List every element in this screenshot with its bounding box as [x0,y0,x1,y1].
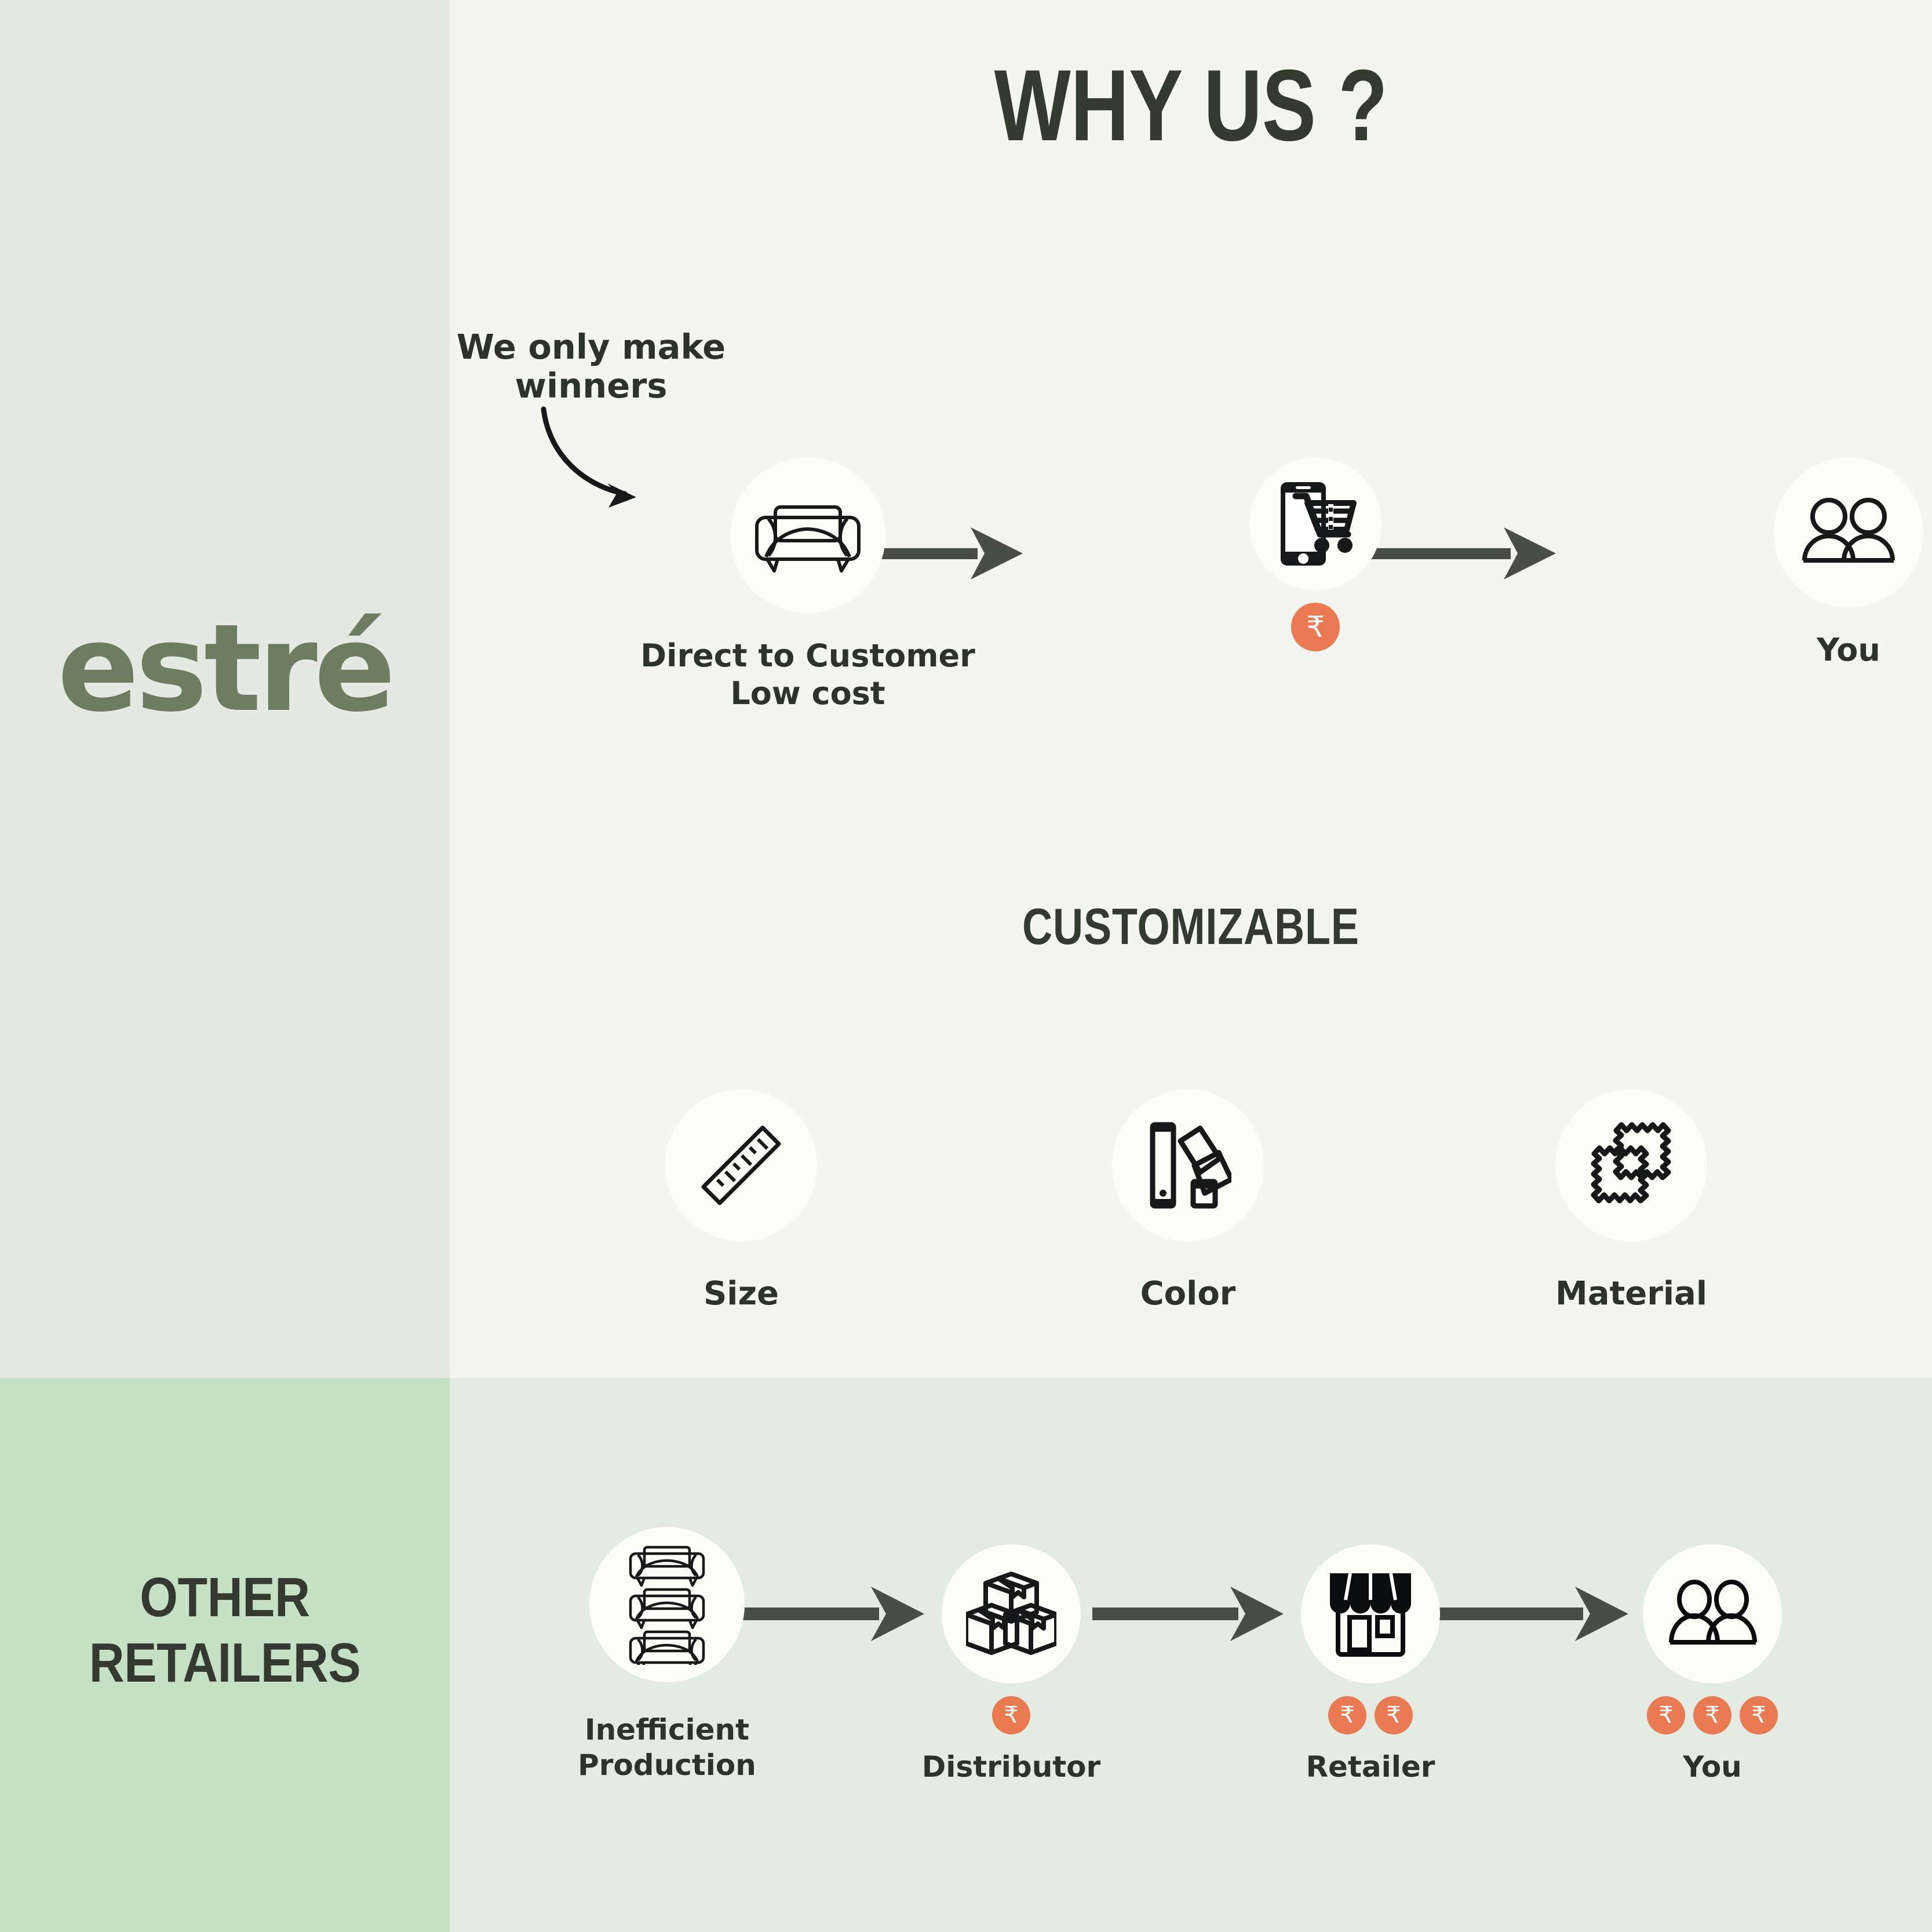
retailer-node-label: Retailer [1220,1750,1521,1784]
fabric-swatch-icon-disc [1555,1089,1707,1241]
other-retailers-title: OTHER RETAILERS [27,1565,423,1696]
page-title: WHY US ? [598,55,1784,156]
color-swatch-icon [1144,1121,1231,1209]
fabric-swatch-icon [1587,1121,1675,1209]
rupee-coin: ₹ [992,1696,1030,1734]
customizable-item-label: Material [1486,1275,1776,1313]
stacked-sofas-icon-disc [589,1527,745,1682]
retailer-flow-arrow-2 [1092,1582,1284,1646]
mobile-cart-icon-disc [1249,458,1381,590]
callout-text: We only make winners [440,327,742,406]
two-people-icon [1798,495,1900,570]
rupee-coin: ₹ [1375,1696,1413,1734]
customizable-item-label: Color [1043,1275,1333,1313]
coin-group: ₹ ₹ ₹ [1647,1696,1778,1734]
retailer-flow-arrow-1 [733,1582,924,1646]
two-people-icon-disc-2 [1643,1544,1782,1683]
customizable-title: CUSTOMIZABLE [583,901,1799,952]
coin-group: ₹ ₹ [1328,1696,1413,1734]
sofa-icon-disc [730,458,885,613]
flow-node-label: Direct to Customer Low cost [622,637,993,713]
ruler-icon-disc [665,1089,817,1241]
retailer-flow-arrow-3 [1437,1582,1628,1646]
retailer-node-label: Inefficient Production [505,1712,829,1783]
rupee-coin: ₹ [1740,1696,1778,1734]
sofa-icon [751,498,865,573]
storefront-icon-disc [1301,1544,1440,1683]
rupee-coin: ₹ [1693,1696,1731,1734]
color-swatch-icon-disc [1112,1089,1264,1241]
storefront-icon [1325,1571,1416,1657]
brand-logo: estré [0,608,450,729]
retailer-node-label: Distributor [861,1750,1162,1784]
two-people-icon-disc [1774,458,1923,607]
boxes-icon [966,1570,1056,1657]
boxes-icon-disc [942,1544,1081,1683]
coin-group: ₹ [1291,603,1340,651]
customizable-item-label: Size [596,1275,886,1313]
rupee-coin: ₹ [1291,603,1340,651]
stacked-sofas-icon [624,1544,710,1665]
coin-group: ₹ [992,1696,1030,1734]
curved-arrow-icon [539,406,666,516]
ruler-icon [698,1122,785,1209]
two-people-icon [1664,1579,1760,1649]
mobile-cart-icon [1266,474,1365,574]
retailer-node-label: You [1562,1750,1863,1784]
rupee-coin: ₹ [1328,1696,1366,1734]
rupee-coin: ₹ [1647,1696,1685,1734]
flow-node-label: You [1721,632,1932,668]
